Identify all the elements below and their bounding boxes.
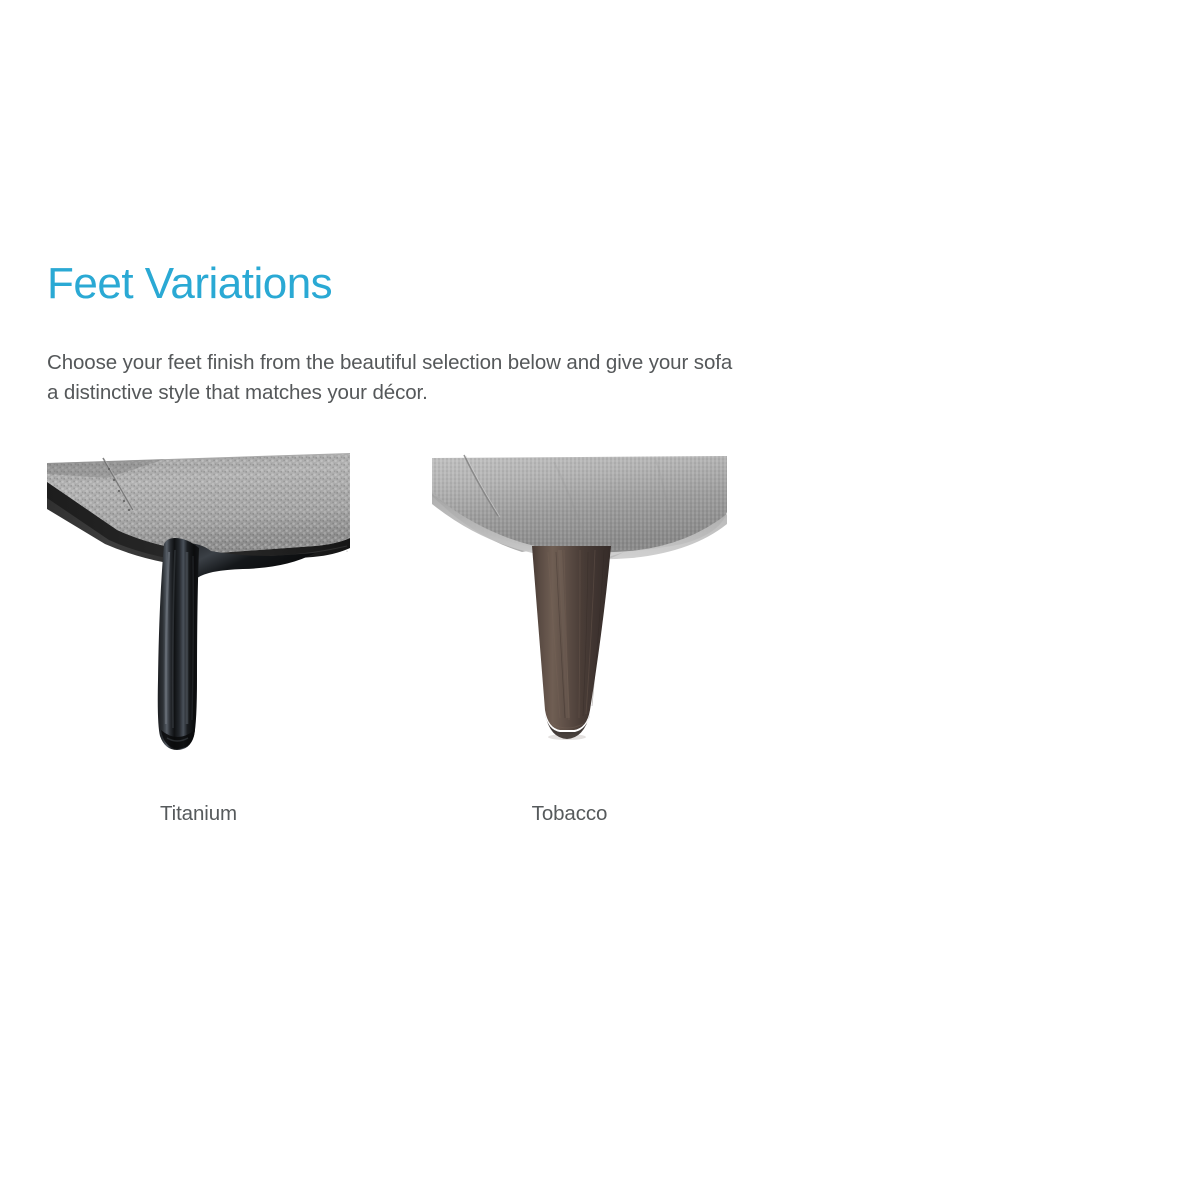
feet-option-label-titanium: Titanium [47, 802, 350, 826]
tobacco-leg-photo[interactable] [424, 452, 727, 755]
page-subtitle: Choose your feet finish from the beautif… [47, 348, 737, 408]
feet-option-titanium[interactable]: Titanium [47, 452, 350, 762]
page-root: Feet Variations Choose your feet finish … [0, 0, 1200, 1200]
feet-option-label-tobacco: Tobacco [418, 802, 721, 826]
feet-variations-gallery: Titanium [47, 452, 747, 852]
feet-option-tobacco[interactable]: Tobacco [424, 452, 727, 762]
titanium-leg-illustration [47, 452, 350, 755]
page-title: Feet Variations [47, 258, 807, 310]
titanium-leg-photo[interactable] [47, 452, 350, 755]
heading-block: Feet Variations [47, 258, 807, 310]
tobacco-leg-illustration [424, 452, 727, 755]
